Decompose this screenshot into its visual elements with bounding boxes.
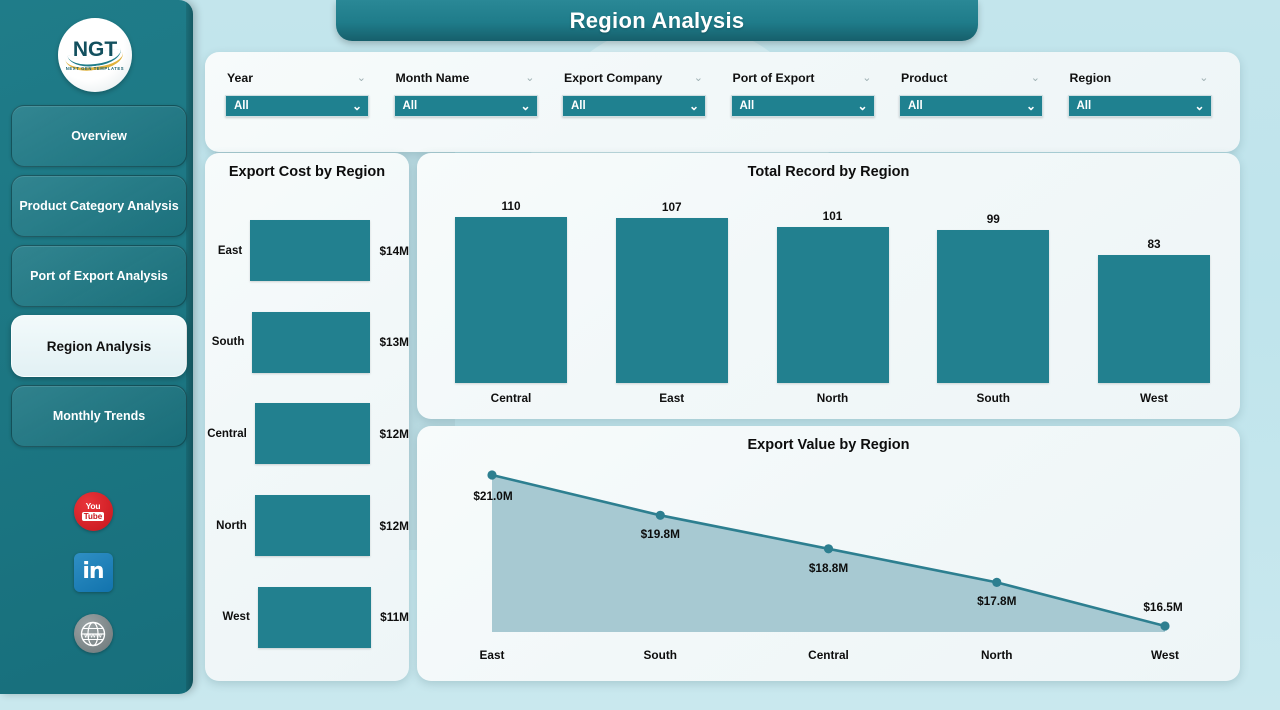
filter-row: Year ⌄ All ⌄ Month Name ⌄ All ⌄ Export C…: [225, 68, 1212, 117]
sidebar-nav: Overview Product Category Analysis Port …: [11, 105, 187, 455]
bar-value-label: 83: [1147, 237, 1160, 251]
filter-month-name: Month Name ⌄ All ⌄: [394, 68, 538, 117]
bar-category-label: South: [205, 336, 252, 348]
bar-value-label: $14M: [379, 244, 409, 258]
axis-tick-label: West: [1151, 648, 1179, 662]
filter-product-header[interactable]: Product ⌄: [899, 68, 1043, 88]
chart-title: Export Cost by Region: [205, 164, 409, 180]
bar-row[interactable]: South$13M: [205, 297, 409, 389]
filter-year: Year ⌄ All ⌄: [225, 68, 369, 117]
bar-category-label: South: [977, 391, 1010, 405]
filter-region-header[interactable]: Region ⌄: [1068, 68, 1212, 88]
bar-category-label: Central: [205, 428, 255, 440]
filter-export-company: Export Company ⌄ All ⌄: [562, 68, 706, 117]
axis-tick-label: North: [981, 648, 1012, 662]
filter-port-of-export-header[interactable]: Port of Export ⌄: [731, 68, 875, 88]
bar-value-label: 110: [501, 199, 520, 213]
bar-fill[interactable]: [255, 495, 371, 556]
sidebar-item-label: Overview: [71, 129, 127, 143]
sidebar-item-label: Monthly Trends: [53, 409, 145, 423]
filter-export-company-label: Export Company: [564, 71, 662, 85]
filter-export-company-select[interactable]: All ⌄: [562, 95, 706, 117]
filter-year-header[interactable]: Year ⌄: [225, 68, 369, 88]
bar-value-label: $12M: [379, 519, 409, 533]
bar-value-label: 99: [987, 212, 1000, 226]
data-point-label: $21.0M: [473, 489, 512, 503]
bar-category-label: East: [205, 245, 250, 257]
filter-region: Region ⌄ All ⌄: [1068, 68, 1212, 117]
bar-column[interactable]: 101North: [777, 199, 889, 405]
sidebar-item-overview[interactable]: Overview: [11, 105, 187, 167]
data-point-label: $17.8M: [977, 594, 1016, 608]
chevron-down-icon: ⌄: [857, 100, 867, 112]
chevron-down-icon: ⌄: [1199, 73, 1208, 84]
logo-tagline: NEXT GEN TEMPLATES: [66, 66, 124, 71]
sidebar: NGT NEXT GEN TEMPLATES Overview Product …: [0, 0, 193, 694]
filter-region-value: All: [1077, 100, 1092, 112]
horizontal-bar-plot-area: East$14MSouth$13MCentral$12MNorth$12MWes…: [205, 205, 409, 663]
bar-fill[interactable]: [777, 227, 889, 383]
total-record-by-region-chart: Total Record by Region 110Central107East…: [417, 153, 1240, 419]
bar-row[interactable]: East$14M: [205, 205, 409, 297]
filter-port-of-export-select[interactable]: All ⌄: [731, 95, 875, 117]
bar-row[interactable]: North$12M: [205, 480, 409, 572]
app-logo: NGT NEXT GEN TEMPLATES: [58, 18, 132, 92]
chevron-down-icon: ⌄: [1194, 100, 1204, 112]
export-value-by-region-chart: Export Value by Region $21.0M$19.8M$18.8…: [417, 426, 1240, 681]
filter-month-name-header[interactable]: Month Name ⌄: [394, 68, 538, 88]
bar-fill[interactable]: [250, 220, 370, 281]
filter-product-select[interactable]: All ⌄: [899, 95, 1043, 117]
bar-category-label: West: [205, 611, 258, 623]
bar-category-label: East: [659, 391, 684, 405]
column-plot-area: 110Central107East101North99South83West: [455, 199, 1210, 405]
bar-column[interactable]: 83West: [1098, 199, 1210, 405]
chevron-down-icon: ⌄: [357, 73, 366, 84]
sidebar-item-region-analysis[interactable]: Region Analysis: [11, 315, 187, 377]
bar-fill[interactable]: [616, 218, 728, 383]
youtube-icon-line1: You: [86, 502, 101, 511]
bar-fill[interactable]: [1098, 255, 1210, 383]
data-point-label: $16.5M: [1143, 600, 1182, 614]
sidebar-item-port-of-export-analysis[interactable]: Port of Export Analysis: [11, 245, 187, 307]
page-title-text: Region Analysis: [570, 8, 745, 34]
bar-category-label: North: [817, 391, 848, 405]
filter-month-name-value: All: [403, 100, 418, 112]
filter-port-of-export: Port of Export ⌄ All ⌄: [731, 68, 875, 117]
filter-port-of-export-value: All: [740, 100, 755, 112]
bar-category-label: Central: [491, 391, 532, 405]
filter-product: Product ⌄ All ⌄: [899, 68, 1043, 117]
linkedin-icon[interactable]: in: [74, 553, 113, 592]
chevron-down-icon: ⌄: [520, 100, 530, 112]
bar-category-label: West: [1140, 391, 1168, 405]
filter-year-select[interactable]: All ⌄: [225, 95, 369, 117]
bar-value-label: 101: [823, 209, 843, 223]
filter-export-company-header[interactable]: Export Company ⌄: [562, 68, 706, 88]
filter-port-of-export-label: Port of Export: [733, 71, 815, 85]
bar-fill[interactable]: [455, 217, 567, 383]
axis-tick-label: Central: [808, 648, 849, 662]
sidebar-item-monthly-trends[interactable]: Monthly Trends: [11, 385, 187, 447]
page-title: Region Analysis: [336, 0, 978, 41]
chevron-down-icon: ⌄: [862, 73, 871, 84]
bar-row[interactable]: Central$12M: [205, 388, 409, 480]
data-point-label: $18.8M: [809, 561, 848, 575]
data-point-label: $19.8M: [641, 527, 680, 541]
bar-row[interactable]: West$11M: [205, 571, 409, 663]
bar-value-label: 107: [662, 200, 682, 214]
linkedin-icon-glyph: in: [82, 559, 103, 584]
filter-year-value: All: [234, 100, 249, 112]
bar-column[interactable]: 99South: [937, 199, 1049, 405]
chevron-down-icon: ⌄: [694, 73, 703, 84]
sidebar-item-label: Region Analysis: [47, 339, 152, 354]
filter-region-select[interactable]: All ⌄: [1068, 95, 1212, 117]
youtube-icon[interactable]: You Tube: [74, 492, 113, 531]
chevron-down-icon: ⌄: [1026, 100, 1036, 112]
axis-tick-label: South: [644, 648, 677, 662]
sidebar-item-label: Product Category Analysis: [19, 199, 178, 213]
sidebar-item-label: Port of Export Analysis: [30, 269, 168, 283]
chevron-down-icon: ⌄: [1031, 73, 1040, 84]
website-icon[interactable]: www: [74, 614, 113, 653]
sidebar-item-product-category-analysis[interactable]: Product Category Analysis: [11, 175, 187, 237]
filter-region-label: Region: [1070, 71, 1112, 85]
filter-panel: Year ⌄ All ⌄ Month Name ⌄ All ⌄ Export C…: [205, 52, 1240, 152]
area-plot-area: $21.0M$19.8M$18.8M$17.8M$16.5MEastSouthC…: [417, 426, 1240, 681]
area-chart-svg: [417, 426, 1240, 681]
bar-fill[interactable]: [937, 230, 1049, 383]
social-links: You Tube in www: [0, 492, 186, 653]
bar-fill[interactable]: [255, 403, 371, 464]
axis-tick-label: East: [480, 648, 505, 662]
bar-value-label: $13M: [379, 335, 409, 349]
svg-text:www: www: [83, 630, 102, 639]
filter-month-name-label: Month Name: [396, 71, 470, 85]
filter-product-label: Product: [901, 71, 947, 85]
chevron-down-icon: ⌄: [525, 73, 534, 84]
bar-value-label: $12M: [379, 427, 409, 441]
chart-title: Total Record by Region: [417, 164, 1240, 180]
bar-column[interactable]: 107East: [616, 199, 728, 405]
bar-fill[interactable]: [252, 312, 370, 373]
bar-column[interactable]: 110Central: [455, 199, 567, 405]
bar-value-label: $11M: [380, 610, 409, 624]
bar-category-label: North: [205, 520, 255, 532]
filter-month-name-select[interactable]: All ⌄: [394, 95, 538, 117]
chevron-down-icon: ⌄: [689, 100, 699, 112]
youtube-icon-line2: Tube: [82, 512, 105, 521]
filter-year-label: Year: [227, 71, 253, 85]
chevron-down-icon: ⌄: [352, 100, 362, 112]
logo-text: NGT: [73, 39, 117, 60]
filter-product-value: All: [908, 100, 923, 112]
bar-fill[interactable]: [258, 587, 371, 648]
export-cost-by-region-chart: Export Cost by Region East$14MSouth$13MC…: [205, 153, 409, 681]
filter-export-company-value: All: [571, 100, 586, 112]
